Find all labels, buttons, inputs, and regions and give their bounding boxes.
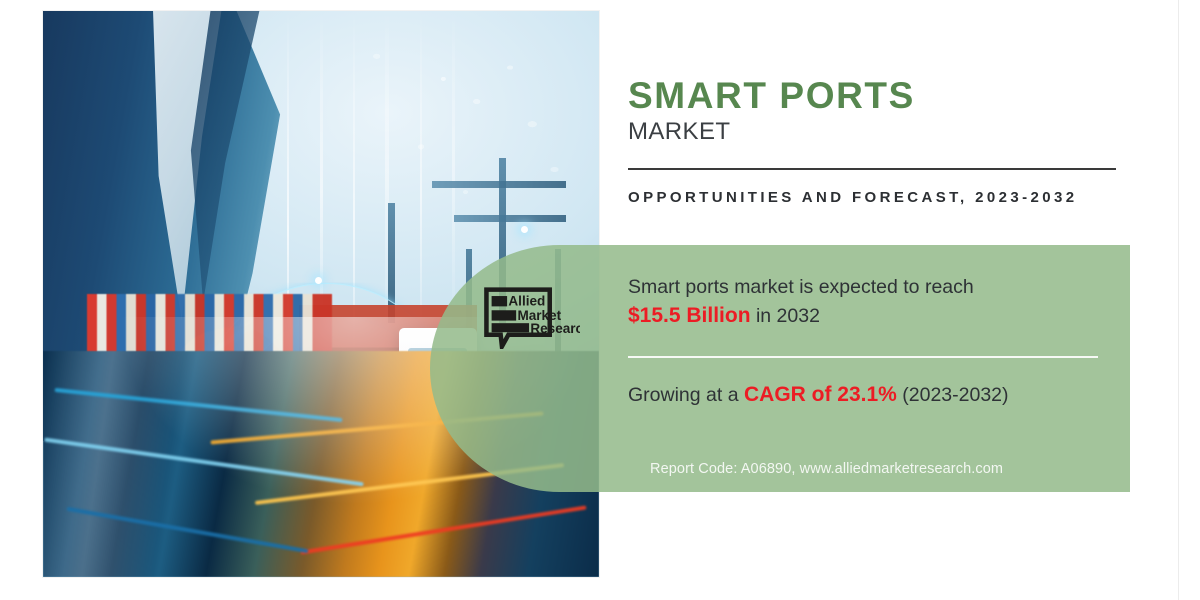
svg-text:Allied: Allied xyxy=(508,294,545,309)
market-value-highlight: $15.5 Billion xyxy=(628,304,751,327)
panel-divider xyxy=(628,356,1098,358)
cagr-suffix: (2023-2032) xyxy=(897,384,1009,406)
title-divider xyxy=(628,168,1116,170)
cagr-highlight: CAGR of 23.1% xyxy=(744,383,897,406)
allied-market-research-logo: Allied Market Research xyxy=(482,287,580,349)
network-node xyxy=(521,226,528,233)
market-value-stat: Smart ports market is expected to reach … xyxy=(628,273,1108,332)
stats-panel: Allied Market Research Smart ports marke… xyxy=(430,245,1130,492)
market-value-suffix: in 2032 xyxy=(751,305,820,327)
forecast-kicker: OPPORTUNITIES AND FORECAST, 2023-2032 xyxy=(628,186,1098,209)
page-border xyxy=(1178,0,1179,600)
report-code-footer: Report Code: A06890, www.alliedmarketres… xyxy=(650,461,1003,477)
page-title: SMART PORTS xyxy=(628,76,915,116)
cagr-stat: Growing at a CAGR of 23.1% (2023-2032) xyxy=(628,380,1108,410)
svg-text:Research: Research xyxy=(530,321,580,336)
page-subtitle: MARKET xyxy=(628,118,730,146)
market-value-prefix: Smart ports market is expected to reach xyxy=(628,276,974,298)
stats-body: Smart ports market is expected to reach … xyxy=(628,263,1108,410)
cagr-prefix: Growing at a xyxy=(628,384,744,406)
infographic-canvas: SMART PORTS MARKET OPPORTUNITIES AND FOR… xyxy=(0,0,1200,600)
